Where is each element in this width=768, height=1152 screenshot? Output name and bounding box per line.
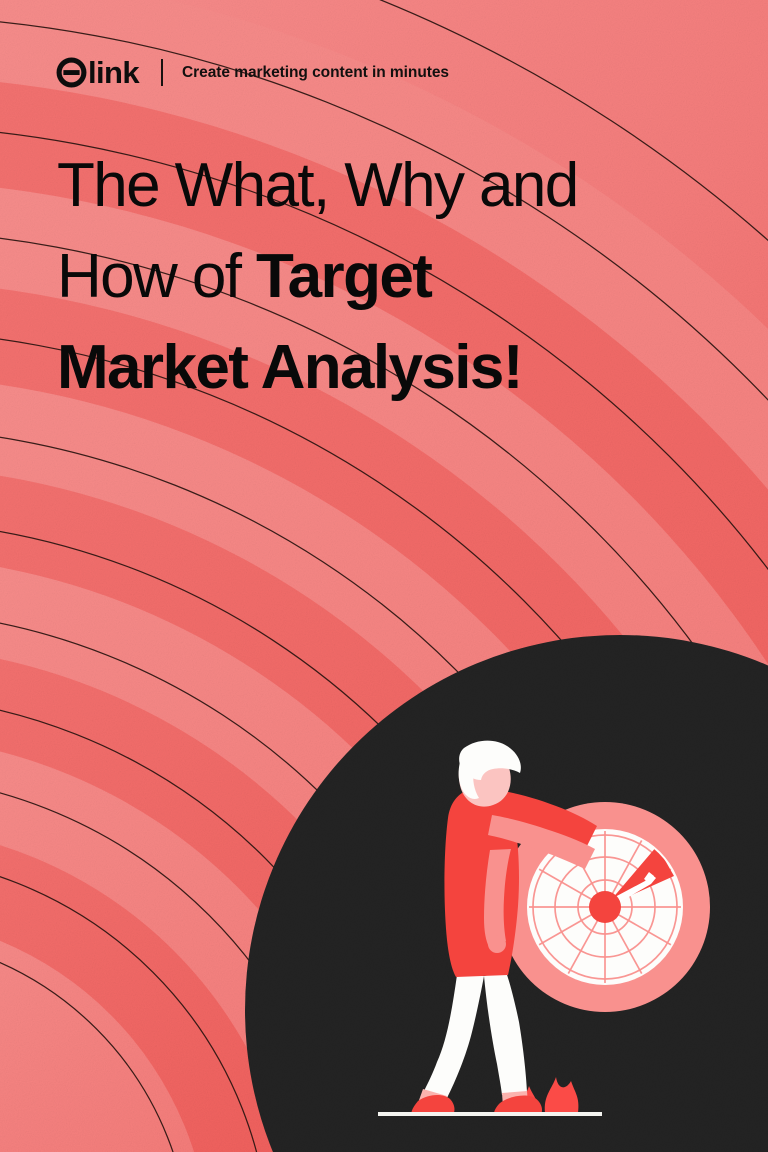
bullseye-hub-icon (589, 891, 621, 923)
page-title: The What, Why and How of Target Market A… (57, 140, 697, 413)
elink-logo-wordmark: link (88, 57, 139, 88)
title-line-2: How of Target (57, 231, 697, 322)
vertical-divider-icon (161, 59, 163, 86)
white-pants-icon (424, 975, 484, 1098)
brand-tagline: Create marketing content in minutes (182, 64, 449, 82)
elink-logo[interactable]: link (56, 57, 139, 88)
brand-header: link Create marketing content in minutes (56, 57, 449, 88)
ground-line-icon (378, 1112, 602, 1116)
poster-canvas: link Create marketing content in minutes… (0, 0, 768, 1152)
elink-circle-e-icon (56, 57, 87, 88)
title-line-1: The What, Why and (57, 140, 697, 231)
title-line-3: Market Analysis! (57, 322, 697, 413)
title-line-2-regular: How of (57, 242, 256, 311)
title-line-2-bold: Target (256, 242, 431, 311)
